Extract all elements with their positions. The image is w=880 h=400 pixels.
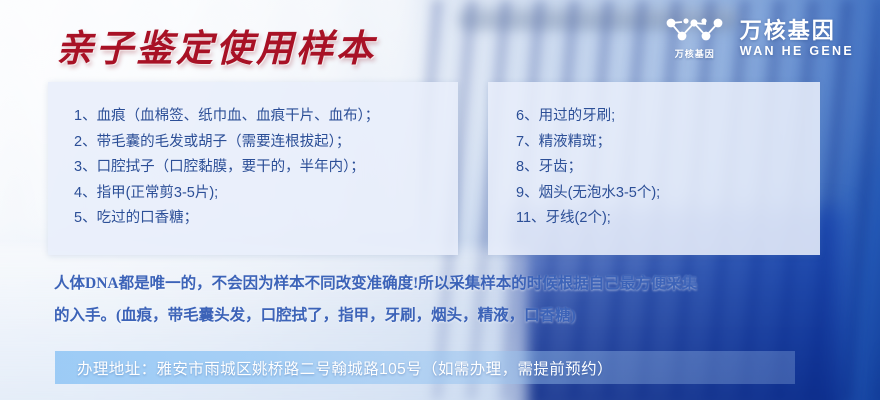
page-title: 亲子鉴定使用样本 [56, 18, 376, 72]
list-item: 1、血痕（血棉签、纸巾血、血痕干片、血布）； [74, 104, 458, 130]
brand-logo: 万核基因 万核基因 WAN HE GENE [664, 16, 854, 60]
brand-name-en: WAN HE GENE [740, 44, 854, 59]
molecule-icon [664, 16, 726, 44]
list-item: 7、精液精斑； [516, 130, 820, 156]
logo-mark: 万核基因 [664, 16, 726, 60]
brand-wordmark: 万核基因 WAN HE GENE [740, 18, 854, 59]
sample-panel-right: 6、用过的牙刷; 7、精液精斑； 8、牙齿； 9、烟头(无泡水3-5个); 11… [488, 82, 820, 255]
sample-panel-left: 1、血痕（血棉签、纸巾血、血痕干片、血布）； 2、带毛囊的毛发或胡子（需要连根拔… [48, 82, 458, 255]
logo-caption: 万核基因 [675, 47, 715, 60]
list-item: 6、用过的牙刷; [516, 104, 820, 130]
list-item: 5、吃过的口香糖； [74, 206, 458, 232]
note-line-2: 的入手。(血痕，带毛囊头发，口腔拭了，指甲，牙刷，烟头，精液，口香糖) [54, 300, 844, 332]
list-item: 4、指甲(正常剪3-5片); [74, 181, 458, 207]
list-item: 8、牙齿； [516, 155, 820, 181]
poster-canvas: 亲子鉴定使用样本 [0, 0, 880, 400]
list-item: 9、烟头(无泡水3-5个); [516, 181, 820, 207]
note-paragraph: 人体DNA都是唯一的，不会因为样本不同改变准确度!所以采集样本的时候根据自己最方… [54, 268, 844, 332]
list-item: 2、带毛囊的毛发或胡子（需要连根拔起）； [74, 130, 458, 156]
address-bar: 办理地址：雅安市雨城区姚桥路二号翰城路105号（如需办理，需提前预约） [55, 351, 795, 384]
list-item: 11、牙线(2个); [516, 206, 820, 232]
note-line-1: 人体DNA都是唯一的，不会因为样本不同改变准确度!所以采集样本的时候根据自己最方… [54, 268, 844, 300]
list-item: 3、口腔拭子（口腔黏膜，要干的，半年内）； [74, 155, 458, 181]
brand-name-cn: 万核基因 [740, 18, 854, 44]
sample-panels: 1、血痕（血棉签、纸巾血、血痕干片、血布）； 2、带毛囊的毛发或胡子（需要连根拔… [48, 82, 820, 255]
